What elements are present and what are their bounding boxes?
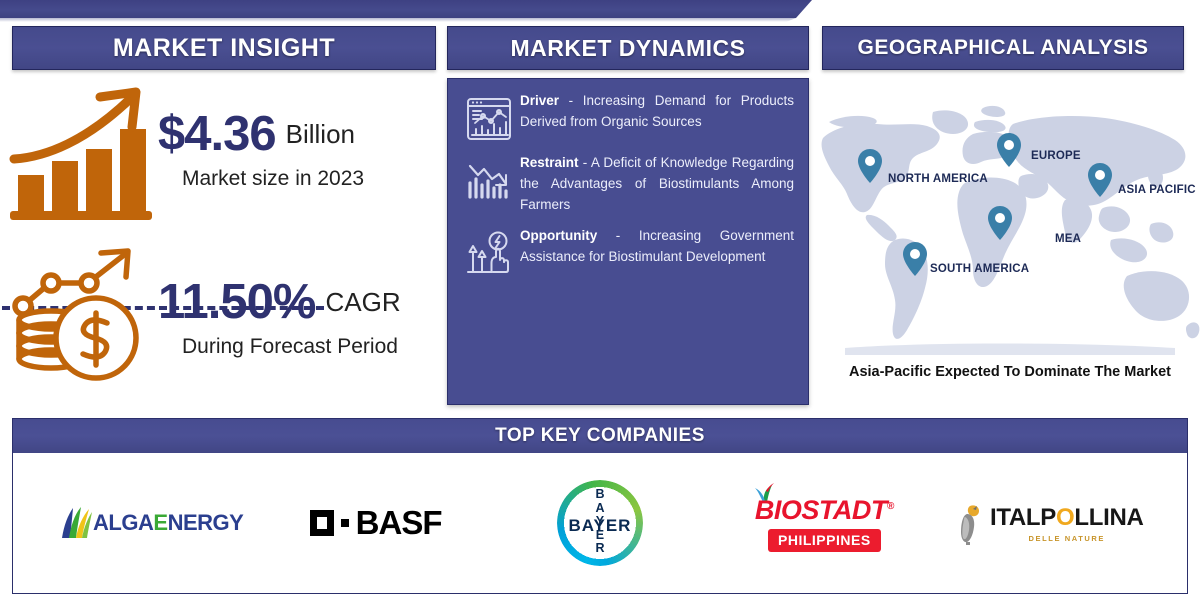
dynamics-item-restraint: Restraint - A Deficit of Knowledge Regar… — [458, 153, 794, 216]
company-logo-basf[interactable]: BASF — [276, 468, 476, 578]
market-dynamics-panel: Driver - Increasing Demand for Products … — [447, 78, 809, 405]
biostadt-wordmark: BIOSTADT® — [755, 495, 894, 526]
cagr-text: 11.50%CAGR During Forecast Period — [154, 278, 401, 359]
geographical-analysis-title: GEOGRAPHICAL ANALYSIS — [858, 36, 1149, 60]
map-label-europe: EUROPE — [1031, 150, 1081, 162]
company-logo-bayer[interactable]: BAYER BAYER — [500, 468, 700, 578]
dynamics-label-opportunity: Opportunity — [520, 228, 597, 243]
dynamics-text-driver: Driver - Increasing Demand for Products … — [520, 91, 794, 133]
top-key-companies-header: TOP KEY COMPANIES — [13, 419, 1187, 453]
dynamics-sep-opportunity: - — [597, 228, 639, 243]
dynamics-item-opportunity: Opportunity - Increasing Government Assi… — [458, 226, 794, 278]
algaenergy-wordmark-part3: NERGY — [168, 510, 244, 535]
top-accent-banner-shadow — [0, 18, 808, 22]
market-size-value: $4.36 — [158, 110, 276, 159]
algaenergy-wordmark-part2: E — [153, 510, 167, 535]
market-insight-title: MARKET INSIGHT — [113, 34, 335, 63]
bayer-wordmark-horizontal: BAYER — [563, 516, 637, 536]
location-pin-icon — [902, 241, 928, 277]
dynamics-text-opportunity: Opportunity - Increasing Government Assi… — [520, 226, 794, 268]
cagr-row: 11.50%CAGR During Forecast Period — [4, 242, 440, 394]
geographical-analysis-caption: Asia-Pacific Expected To Dominate The Ma… — [820, 364, 1200, 380]
top-key-companies-panel: TOP KEY COMPANIES ALGAENERGY — [12, 418, 1188, 594]
dynamics-sep-driver: - — [559, 93, 583, 108]
infographic-root: MARKET INSIGHT $4.36 — [0, 0, 1200, 600]
map-label-mea: MEA — [1055, 233, 1081, 245]
top-key-companies-title: TOP KEY COMPANIES — [495, 425, 705, 447]
market-size-unit: Billion — [276, 119, 355, 150]
basf-square-mark-icon — [310, 510, 334, 536]
algaenergy-wordmark-part1: ALGA — [93, 510, 153, 535]
map-label-north-america: NORTH AMERICA — [888, 173, 988, 185]
declining-bar-chart-icon — [458, 153, 520, 203]
market-dynamics-title: MARKET DYNAMICS — [511, 35, 746, 62]
cagr-value: 11.50% — [158, 278, 316, 327]
dynamics-text-restraint: Restraint - A Deficit of Knowledge Regar… — [520, 153, 794, 216]
biostadt-registered-mark: ® — [887, 501, 894, 512]
top-accent-banner — [0, 0, 812, 18]
market-size-caption: Market size in 2023 — [158, 159, 364, 191]
coins-growth-icon — [4, 243, 154, 393]
location-pin-icon — [857, 148, 883, 184]
map-label-asia-pacific: ASIA PACIFIC — [1118, 184, 1196, 196]
dynamics-item-driver: Driver - Increasing Demand for Products … — [458, 91, 794, 143]
market-size-row: $4.36Billion Market size in 2023 — [4, 74, 440, 226]
market-insight-body: $4.36Billion Market size in 2023 — [0, 74, 440, 404]
basf-dot-icon — [341, 519, 349, 527]
company-logo-italpollina[interactable]: ITALPOLLINA DELLE NATURE — [949, 468, 1149, 578]
algaenergy-leaf-mark-icon — [59, 505, 93, 541]
world-map: NORTH AMERICA EUROPE ASIA PACIFIC MEA SO… — [815, 100, 1200, 355]
basf-wordmark: BASF — [356, 504, 442, 542]
location-pin-icon — [987, 205, 1013, 241]
location-pin-icon — [1087, 162, 1113, 198]
dynamics-label-driver: Driver — [520, 93, 559, 108]
company-logo-biostadt[interactable]: BIOSTADT® PHILIPPINES — [724, 468, 924, 578]
dynamics-label-restraint: Restraint — [520, 155, 579, 170]
cagr-caption: During Forecast Period — [158, 327, 401, 359]
location-pin-icon — [996, 132, 1022, 168]
italpollina-bird-icon — [954, 501, 984, 545]
map-label-south-america: SOUTH AMERICA — [930, 263, 1029, 275]
geographical-analysis-header: GEOGRAPHICAL ANALYSIS — [822, 26, 1184, 70]
market-dynamics-header: MARKET DYNAMICS — [447, 26, 809, 70]
growth-opportunity-hand-icon — [458, 226, 520, 278]
market-size-text: $4.36Billion Market size in 2023 — [154, 110, 364, 191]
dynamics-sep-restraint: - — [579, 155, 591, 170]
company-logo-strip: ALGAENERGY BASF BAYER BAYER — [13, 453, 1187, 593]
company-logo-algaenergy[interactable]: ALGAENERGY — [51, 468, 251, 578]
italpollina-wordmark: ITALPOLLINA — [990, 504, 1144, 532]
biostadt-country-band: PHILIPPINES — [768, 529, 881, 552]
market-insight-header: MARKET INSIGHT — [12, 26, 436, 70]
bar-chart-growth-icon — [4, 75, 154, 225]
cagr-unit: CAGR — [316, 287, 401, 318]
italpollina-tagline: DELLE NATURE — [990, 532, 1144, 543]
dashboard-analytics-icon — [458, 91, 520, 143]
